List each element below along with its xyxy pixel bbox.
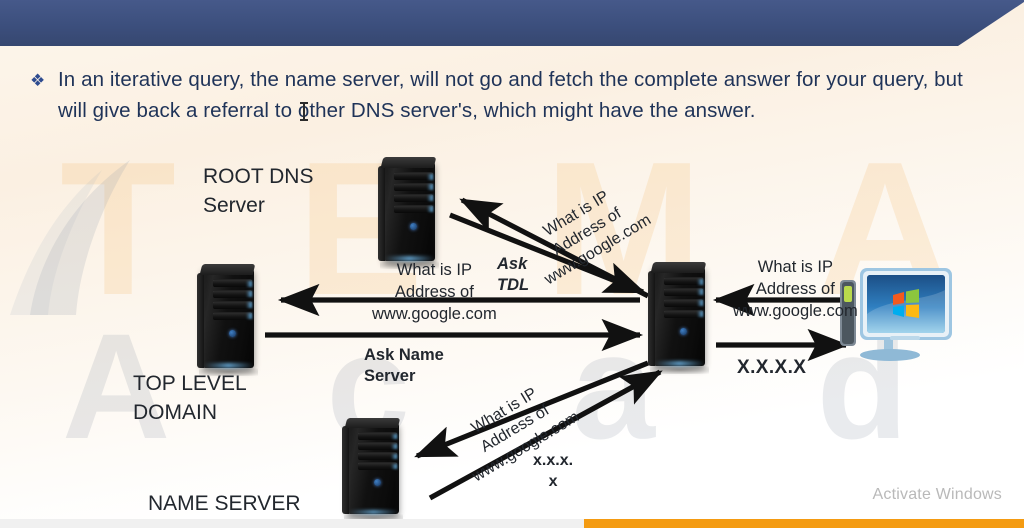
video-progress-fill: [584, 519, 1024, 528]
label-ask-name-server: Ask Name Server: [364, 345, 444, 387]
diamond-bullet-icon: ❖: [30, 73, 46, 89]
video-progress-track[interactable]: [0, 519, 1024, 528]
server-tower-root-dns: [378, 157, 440, 265]
label-name-server: NAME SERVER: [148, 489, 301, 518]
activate-windows-watermark: Activate Windows: [873, 486, 1002, 504]
label-tld-to-resolver-query: What is IP Address of www.google.com: [372, 259, 497, 325]
label-resolver-to-client-ip: X.X.X.X: [737, 355, 806, 380]
label-client-to-resolver-query: What is IP Address of www.google.com: [733, 256, 858, 322]
bullet-paragraph: In an iterative query, the name server, …: [58, 64, 970, 126]
server-tower-resolver: [648, 262, 710, 370]
server-tower-top-level-domain: [197, 264, 259, 372]
server-tower-name-server: [342, 418, 404, 518]
label-nameserver-to-resolver-ip: x.x.x. x: [533, 450, 573, 492]
label-top-level-domain: TOP LEVEL DOMAIN: [133, 369, 247, 427]
label-ask-tdl: Ask TDL: [497, 254, 529, 296]
label-root-dns-server: ROOT DNS Server: [203, 162, 313, 220]
text-cursor-icon: [303, 102, 305, 121]
slide-header-bar: [0, 0, 1024, 46]
bullet-block: ❖ In an iterative query, the name server…: [30, 64, 970, 126]
slide-canvas: T E M A A c a d e m y iterative query OR…: [0, 0, 1024, 528]
